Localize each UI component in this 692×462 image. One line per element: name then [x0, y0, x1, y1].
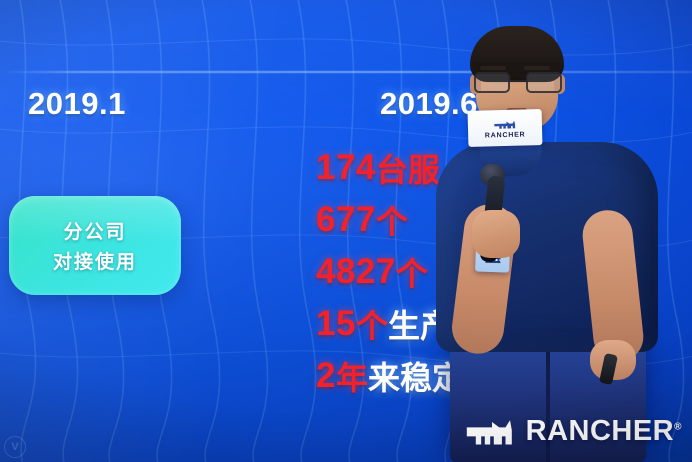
stat-unit-red: 个	[356, 301, 388, 347]
glasses-lens-left	[474, 72, 510, 93]
pill-line-2: 对接使用	[53, 247, 137, 274]
slide-year-left: 2019.1	[28, 86, 126, 122]
logo-wordmark: RANCHER®	[526, 415, 682, 448]
stat-number: 4827	[316, 252, 396, 292]
logo-wordmark-text: RANCHER	[526, 415, 675, 447]
glasses-bridge	[510, 80, 526, 82]
microphone-flag-label: RANCHER	[485, 131, 526, 139]
glasses-lens-right	[526, 72, 562, 93]
stat-number: 677	[316, 200, 376, 240]
stat-number: 174	[316, 148, 376, 188]
speaker-glasses	[472, 72, 564, 94]
stat-number: 15	[316, 304, 356, 344]
cow-icon	[492, 117, 518, 131]
speaker-hand-holding-mic	[472, 210, 520, 258]
speaker-eyebrow-right	[524, 66, 550, 70]
screenshot-stage: 2019.1 2019.6 分公司 对接使用 174 台服 677 个 4827…	[0, 0, 692, 462]
corner-watermark-icon: V	[4, 436, 26, 458]
cow-icon	[465, 414, 519, 448]
registered-trademark-icon: ®	[674, 421, 682, 432]
rancher-logo: RANCHER®	[465, 414, 682, 448]
pill-line-1: 分公司	[63, 217, 126, 244]
stat-unit-red: 年	[336, 353, 368, 399]
slide-pill-callout: 分公司 对接使用	[9, 196, 181, 295]
microphone-flag: RANCHER	[468, 109, 543, 147]
speaker-eyebrow-left	[480, 66, 506, 70]
stat-number: 2	[316, 356, 336, 396]
speaker-figure: RANCHER	[398, 14, 692, 462]
